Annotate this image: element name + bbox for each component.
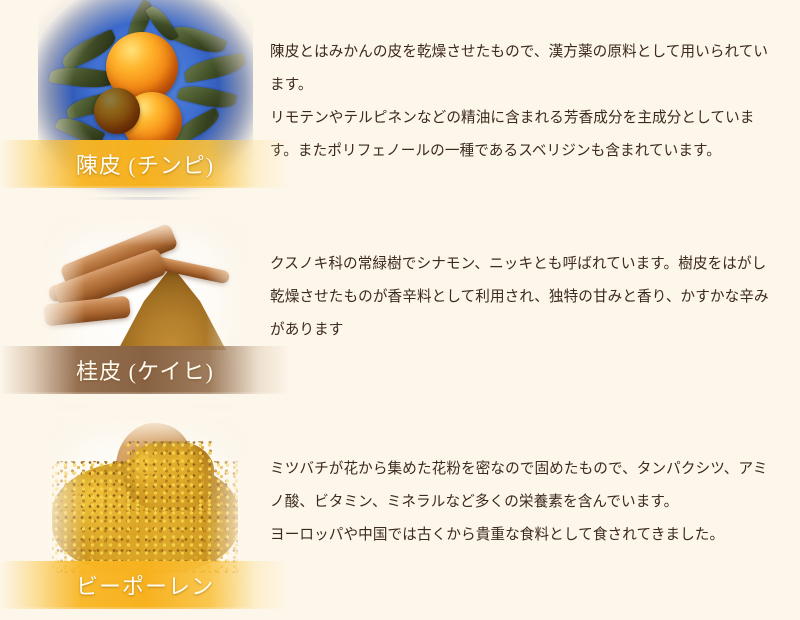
ingredient-figure-keihi: 桂皮 (ケイヒ) — [38, 214, 253, 406]
ingredient-figure-bee-pollen: ビーポーレン — [38, 415, 253, 613]
orange-fruit-icon — [94, 88, 140, 134]
caption-band-bee-pollen: ビーポーレン — [0, 561, 290, 609]
caption-band-keihi: 桂皮 (ケイヒ) — [0, 346, 290, 394]
ingredient-section-keihi: 桂皮 (ケイヒ) クスノキ科の常緑樹でシナモン、ニッキとも呼ばれています。樹皮を… — [0, 210, 800, 415]
leaf-icon — [168, 20, 227, 59]
leaf-icon — [177, 81, 238, 112]
description-keihi: クスノキ科の常緑樹でシナモン、ニッキとも呼ばれています。樹皮をはがし乾燥させたも… — [270, 248, 778, 347]
description-chinpi: 陳皮とはみかんの皮を乾燥させたもので、漢方薬の原料として用いられています。 リモ… — [270, 36, 778, 168]
description-paragraph: リモテンやテルピネンなどの精油に含まれる芳香成分を主成分としています。またポリフ… — [270, 102, 778, 168]
caption-label-bee-pollen: ビーポーレン — [76, 569, 214, 601]
description-paragraph: ミツバチが花から集めた花粉を密なので固めたもので、タンパクシツ、アミノ酸、ビタミ… — [270, 453, 778, 519]
description-paragraph: ヨーロッパや中国では古くから貴重な食料として食されてきました。 — [270, 519, 778, 552]
ingredient-section-bee-pollen: ビーポーレン ミツバチが花から集めた花粉を密なので固めたもので、タンパクシツ、ア… — [0, 415, 800, 620]
ingredient-figure-chinpi: 陳皮 (チンピ) — [38, 0, 253, 200]
leaf-icon — [183, 53, 248, 83]
description-paragraph: 陳皮とはみかんの皮を乾燥させたもので、漢方薬の原料として用いられています。 — [270, 36, 778, 102]
description-paragraph: クスノキ科の常緑樹でシナモン、ニッキとも呼ばれています。樹皮をはがし乾燥させたも… — [270, 248, 778, 347]
caption-band-chinpi: 陳皮 (チンピ) — [0, 140, 290, 188]
ingredient-info-page: 陳皮 (チンピ) 陳皮とはみかんの皮を乾燥させたもので、漢方薬の原料として用いら… — [0, 0, 800, 620]
pollen-granules-texture — [124, 441, 214, 511]
pollen-mound-icon — [124, 441, 214, 511]
ingredient-section-chinpi: 陳皮 (チンピ) 陳皮とはみかんの皮を乾燥させたもので、漢方薬の原料として用いら… — [0, 0, 800, 210]
caption-label-chinpi: 陳皮 (チンピ) — [76, 148, 214, 180]
description-bee-pollen: ミツバチが花から集めた花粉を密なので固めたもので、タンパクシツ、アミノ酸、ビタミ… — [270, 453, 778, 552]
caption-label-keihi: 桂皮 (ケイヒ) — [76, 354, 214, 386]
